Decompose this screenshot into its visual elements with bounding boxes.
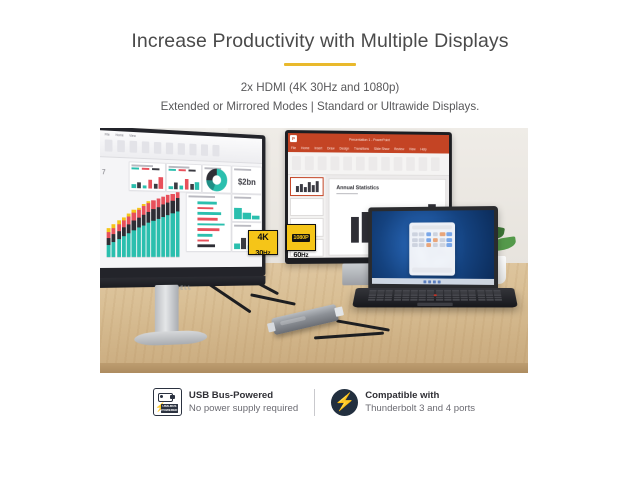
powerpoint-titlebar: P Presentation 1 - PowerPoint	[288, 133, 449, 146]
feature-usb-subtitle: No power supply required	[189, 402, 298, 415]
ribbon-icon[interactable]	[292, 156, 301, 170]
taskbar-icon-edge[interactable]	[438, 280, 441, 283]
ribbon-icon[interactable]	[330, 156, 339, 170]
stacked-chart-axis	[107, 257, 180, 262]
ribbon-tab-design[interactable]: Design	[339, 147, 349, 151]
taskbar-icon-start[interactable]	[423, 280, 426, 283]
stacked-columns	[107, 198, 180, 257]
laptop-trackpad	[417, 303, 453, 306]
card-title-bar	[131, 164, 152, 167]
feature-thunderbolt: ⚡ Compatible with Thunderbolt 3 and 4 po…	[331, 389, 475, 416]
badge-1080p: 1080P 60Hz	[286, 224, 316, 251]
title-underline-accent	[284, 63, 356, 66]
left-monitor-base	[134, 330, 207, 346]
bar	[174, 182, 178, 189]
legend-swatch	[189, 169, 196, 171]
stack-col	[142, 204, 146, 257]
ribbon-icon[interactable]	[201, 144, 208, 156]
ribbon-icon[interactable]	[166, 142, 173, 154]
product-marketing-image: Increase Productivity with Multiple Disp…	[0, 0, 640, 480]
badge-1080p-line2-wrap: 60Hz	[287, 244, 315, 262]
thumbnail-bars	[296, 181, 319, 192]
ribbon-tab-file[interactable]: File	[291, 146, 296, 150]
thunderbolt-icon: ⚡	[331, 389, 358, 416]
dashboard-canvas: $2bn	[104, 160, 260, 265]
product-photo: File Home View 7	[100, 128, 528, 373]
page-title: Increase Productivity with Multiple Disp…	[0, 28, 640, 54]
slide-thumbnail[interactable]	[290, 198, 324, 216]
app-tile[interactable]	[412, 243, 417, 247]
dashboard-stacked-chart[interactable]	[104, 190, 182, 262]
dashboard-card[interactable]	[166, 163, 202, 193]
ribbon-icon[interactable]	[142, 141, 149, 153]
ribbon-icon[interactable]	[394, 157, 403, 171]
hub-connector-left	[267, 322, 276, 332]
stack-col	[117, 220, 121, 257]
bar	[234, 208, 242, 219]
bar	[243, 212, 251, 219]
ribbon-icon[interactable]	[130, 141, 138, 153]
ribbon-icon[interactable]	[318, 156, 327, 170]
feature-thunderbolt-title: Compatible with	[365, 389, 475, 402]
bar	[131, 184, 135, 188]
ribbon-icon[interactable]	[154, 142, 161, 154]
stack-col	[151, 200, 155, 257]
ribbon-tab-insert[interactable]: Insert	[314, 146, 322, 150]
ribbon-icon[interactable]	[212, 145, 219, 157]
card-title-bar	[234, 168, 251, 171]
dashboard-card[interactable]	[232, 194, 263, 223]
app-tile[interactable]	[447, 232, 452, 236]
ribbon-tab-transitions[interactable]: Transitions	[354, 147, 369, 151]
feature-thunderbolt-text: Compatible with Thunderbolt 3 and 4 port…	[365, 389, 475, 415]
app-tile[interactable]	[433, 238, 438, 242]
badge-4k-unit: Hz	[263, 250, 271, 257]
feature-usb-bus-powered: ⚡ USB-BUS POWERED USB Bus-Powered No pow…	[153, 388, 298, 416]
badge-1080p-line1: 1080P	[292, 234, 309, 242]
stack-col	[112, 224, 116, 257]
ribbon-tab-file[interactable]: File	[105, 132, 110, 136]
bar	[195, 182, 199, 190]
bar	[252, 215, 260, 219]
laptop-lid	[368, 206, 498, 292]
feature-divider	[314, 389, 315, 416]
ribbon-icon[interactable]	[178, 143, 185, 155]
app-tile[interactable]	[412, 232, 417, 236]
ribbon-icon[interactable]	[343, 157, 352, 171]
windows-taskbar[interactable]	[372, 278, 494, 285]
ribbon-tab-help[interactable]: Help	[420, 147, 426, 151]
badge-1080p-unit: Hz	[301, 252, 309, 259]
stack-col	[166, 195, 170, 257]
legend-swatch	[131, 167, 139, 169]
bar	[197, 245, 214, 248]
usb-plug-dot	[160, 395, 163, 398]
app-tile[interactable]	[412, 238, 417, 242]
ribbon-tab-draw[interactable]: Draw	[327, 146, 334, 150]
laptop-base	[352, 288, 518, 307]
laptop	[362, 206, 512, 326]
bar	[154, 184, 158, 189]
taskbar-icon-search[interactable]	[428, 280, 431, 283]
bar	[190, 184, 194, 190]
ribbon-icon[interactable]	[381, 157, 390, 171]
feature-usb-title: USB Bus-Powered	[189, 389, 298, 402]
ribbon-icon[interactable]	[369, 157, 378, 171]
legend-swatch	[152, 168, 159, 170]
app-tile[interactable]	[433, 232, 438, 236]
bar	[185, 179, 189, 189]
dashboard-card[interactable]	[129, 161, 166, 192]
start-menu-search-input[interactable]	[412, 225, 452, 229]
bar	[143, 186, 147, 189]
bar	[179, 185, 183, 189]
header: Increase Productivity with Multiple Disp…	[0, 28, 640, 116]
ribbon-icon[interactable]	[431, 157, 440, 171]
stack-col	[107, 228, 111, 257]
bar	[197, 234, 212, 237]
ribbon-icon[interactable]	[406, 157, 415, 171]
app-tile[interactable]	[419, 243, 424, 247]
card-bars	[169, 173, 200, 190]
bar	[197, 228, 219, 231]
bar	[137, 182, 141, 188]
feature-usb-text: USB Bus-Powered No power supply required	[189, 389, 298, 415]
taskbar-icon-explorer[interactable]	[433, 280, 436, 283]
stack-col	[161, 197, 165, 257]
legend-swatch	[179, 169, 186, 171]
ribbon-tab-review[interactable]: Review	[394, 147, 404, 151]
ribbon-icon[interactable]	[105, 139, 113, 151]
kpi-value: $2bn	[238, 177, 256, 187]
left-monitor: File Home View 7	[100, 128, 272, 373]
thunderbolt-bolt-glyph: ⚡	[334, 394, 355, 411]
stack-col	[132, 210, 136, 257]
dashboard-ribbon: File Home View	[100, 130, 262, 164]
slide-title: Annual Statistics	[336, 185, 379, 191]
badge-4k-line1: 4K	[249, 232, 277, 242]
app-tile[interactable]	[447, 238, 452, 242]
start-menu-app-grid	[412, 232, 452, 247]
app-tile[interactable]	[440, 243, 445, 247]
slide-title-underline	[336, 193, 357, 194]
laptop-screen	[372, 210, 494, 285]
ribbon-tab-slide-show[interactable]: Slide Show	[374, 147, 389, 151]
badge-4k: 4K 30Hz	[248, 230, 278, 255]
slide-thumbnail[interactable]	[290, 177, 324, 196]
card-title-bar	[189, 195, 216, 198]
card-legend	[169, 169, 196, 172]
ribbon-tab-home[interactable]: Home	[301, 146, 309, 150]
card-bars	[234, 203, 259, 219]
app-tile[interactable]	[426, 232, 431, 236]
ribbon-icon[interactable]	[356, 157, 365, 171]
bar	[241, 238, 247, 249]
bar	[197, 218, 217, 221]
app-tile[interactable]	[426, 238, 431, 242]
stack-col	[147, 201, 151, 257]
app-tile[interactable]	[419, 238, 424, 242]
stack-col	[171, 194, 175, 257]
hub-connector-right	[334, 306, 344, 317]
usb-icon-label: USB-BUS POWERED	[161, 404, 178, 413]
stack-col	[127, 214, 131, 257]
dashboard-card-kpi[interactable]: $2bn	[232, 165, 263, 194]
bar	[197, 207, 213, 210]
card-legend	[131, 167, 159, 170]
legend-swatch	[142, 168, 149, 170]
start-menu-user-bar[interactable]	[412, 268, 452, 273]
left-monitor-screen: File Home View 7	[100, 130, 262, 268]
ribbon-icon[interactable]	[305, 156, 314, 170]
app-tile[interactable]	[433, 243, 438, 247]
badge-4k-line2: 30	[255, 248, 263, 257]
app-tile[interactable]	[426, 243, 431, 247]
powerpoint-window-title: Presentation 1 - PowerPoint	[349, 137, 390, 141]
stack-col	[122, 217, 126, 257]
dashboard-card-donut[interactable]	[202, 164, 232, 193]
card-title-bar	[234, 224, 251, 226]
donut-chart	[206, 168, 227, 191]
bar	[148, 179, 152, 188]
badge-4k-line2-wrap: 30Hz	[249, 242, 277, 260]
ribbon-tab-home[interactable]: Home	[115, 133, 123, 137]
bar	[234, 243, 240, 249]
bar	[159, 177, 163, 189]
app-tile[interactable]	[419, 232, 424, 236]
left-monitor-bezel: File Home View 7	[100, 128, 265, 278]
bar	[169, 186, 173, 189]
bar	[351, 217, 359, 243]
stack-col	[137, 208, 141, 257]
ribbon-tab-view[interactable]: View	[409, 147, 416, 151]
trackpoint-nub	[434, 294, 437, 296]
app-tile[interactable]	[440, 238, 445, 242]
powerpoint-ribbon	[288, 152, 449, 176]
card-bars	[131, 171, 163, 188]
left-monitor-neck	[155, 285, 179, 336]
feature-bar: ⚡ USB-BUS POWERED USB Bus-Powered No pow…	[100, 378, 528, 426]
card-title-bar	[169, 165, 190, 168]
legend-swatch	[169, 169, 176, 171]
subtitle-line-2: Extended or Mirrored Modes | Standard or…	[0, 98, 640, 117]
badge-1080p-line1-wrap: 1080P	[287, 226, 315, 244]
powerpoint-logo: P	[290, 135, 297, 142]
feature-thunderbolt-subtitle: Thunderbolt 3 and 4 ports	[365, 402, 475, 415]
left-monitor-chin: DELL	[100, 276, 265, 288]
bar	[197, 239, 208, 242]
ribbon-tab-view[interactable]: View	[129, 134, 135, 138]
bar	[197, 223, 224, 226]
key-row	[368, 299, 502, 301]
usb-connector-tip	[170, 395, 175, 399]
badge-1080p-line2: 60	[293, 250, 301, 259]
windows-start-menu[interactable]	[409, 222, 455, 275]
stack-col	[176, 192, 180, 257]
bar	[197, 201, 216, 204]
ribbon-icon[interactable]	[117, 140, 125, 152]
bar	[197, 212, 221, 215]
usb-bus-powered-icon: ⚡ USB-BUS POWERED	[153, 388, 182, 416]
subtitle-line-1: 2x HDMI (4K 30Hz and 1080p)	[0, 79, 640, 98]
card-title-bar	[234, 196, 251, 198]
app-tile[interactable]	[447, 243, 452, 247]
dashboard-hbar-chart[interactable]	[186, 192, 232, 252]
ribbon-icon[interactable]	[189, 144, 196, 156]
app-tile[interactable]	[440, 232, 445, 236]
ribbon-icon[interactable]	[419, 157, 428, 171]
stack-col	[156, 198, 160, 256]
horizontal-bars	[197, 200, 228, 248]
